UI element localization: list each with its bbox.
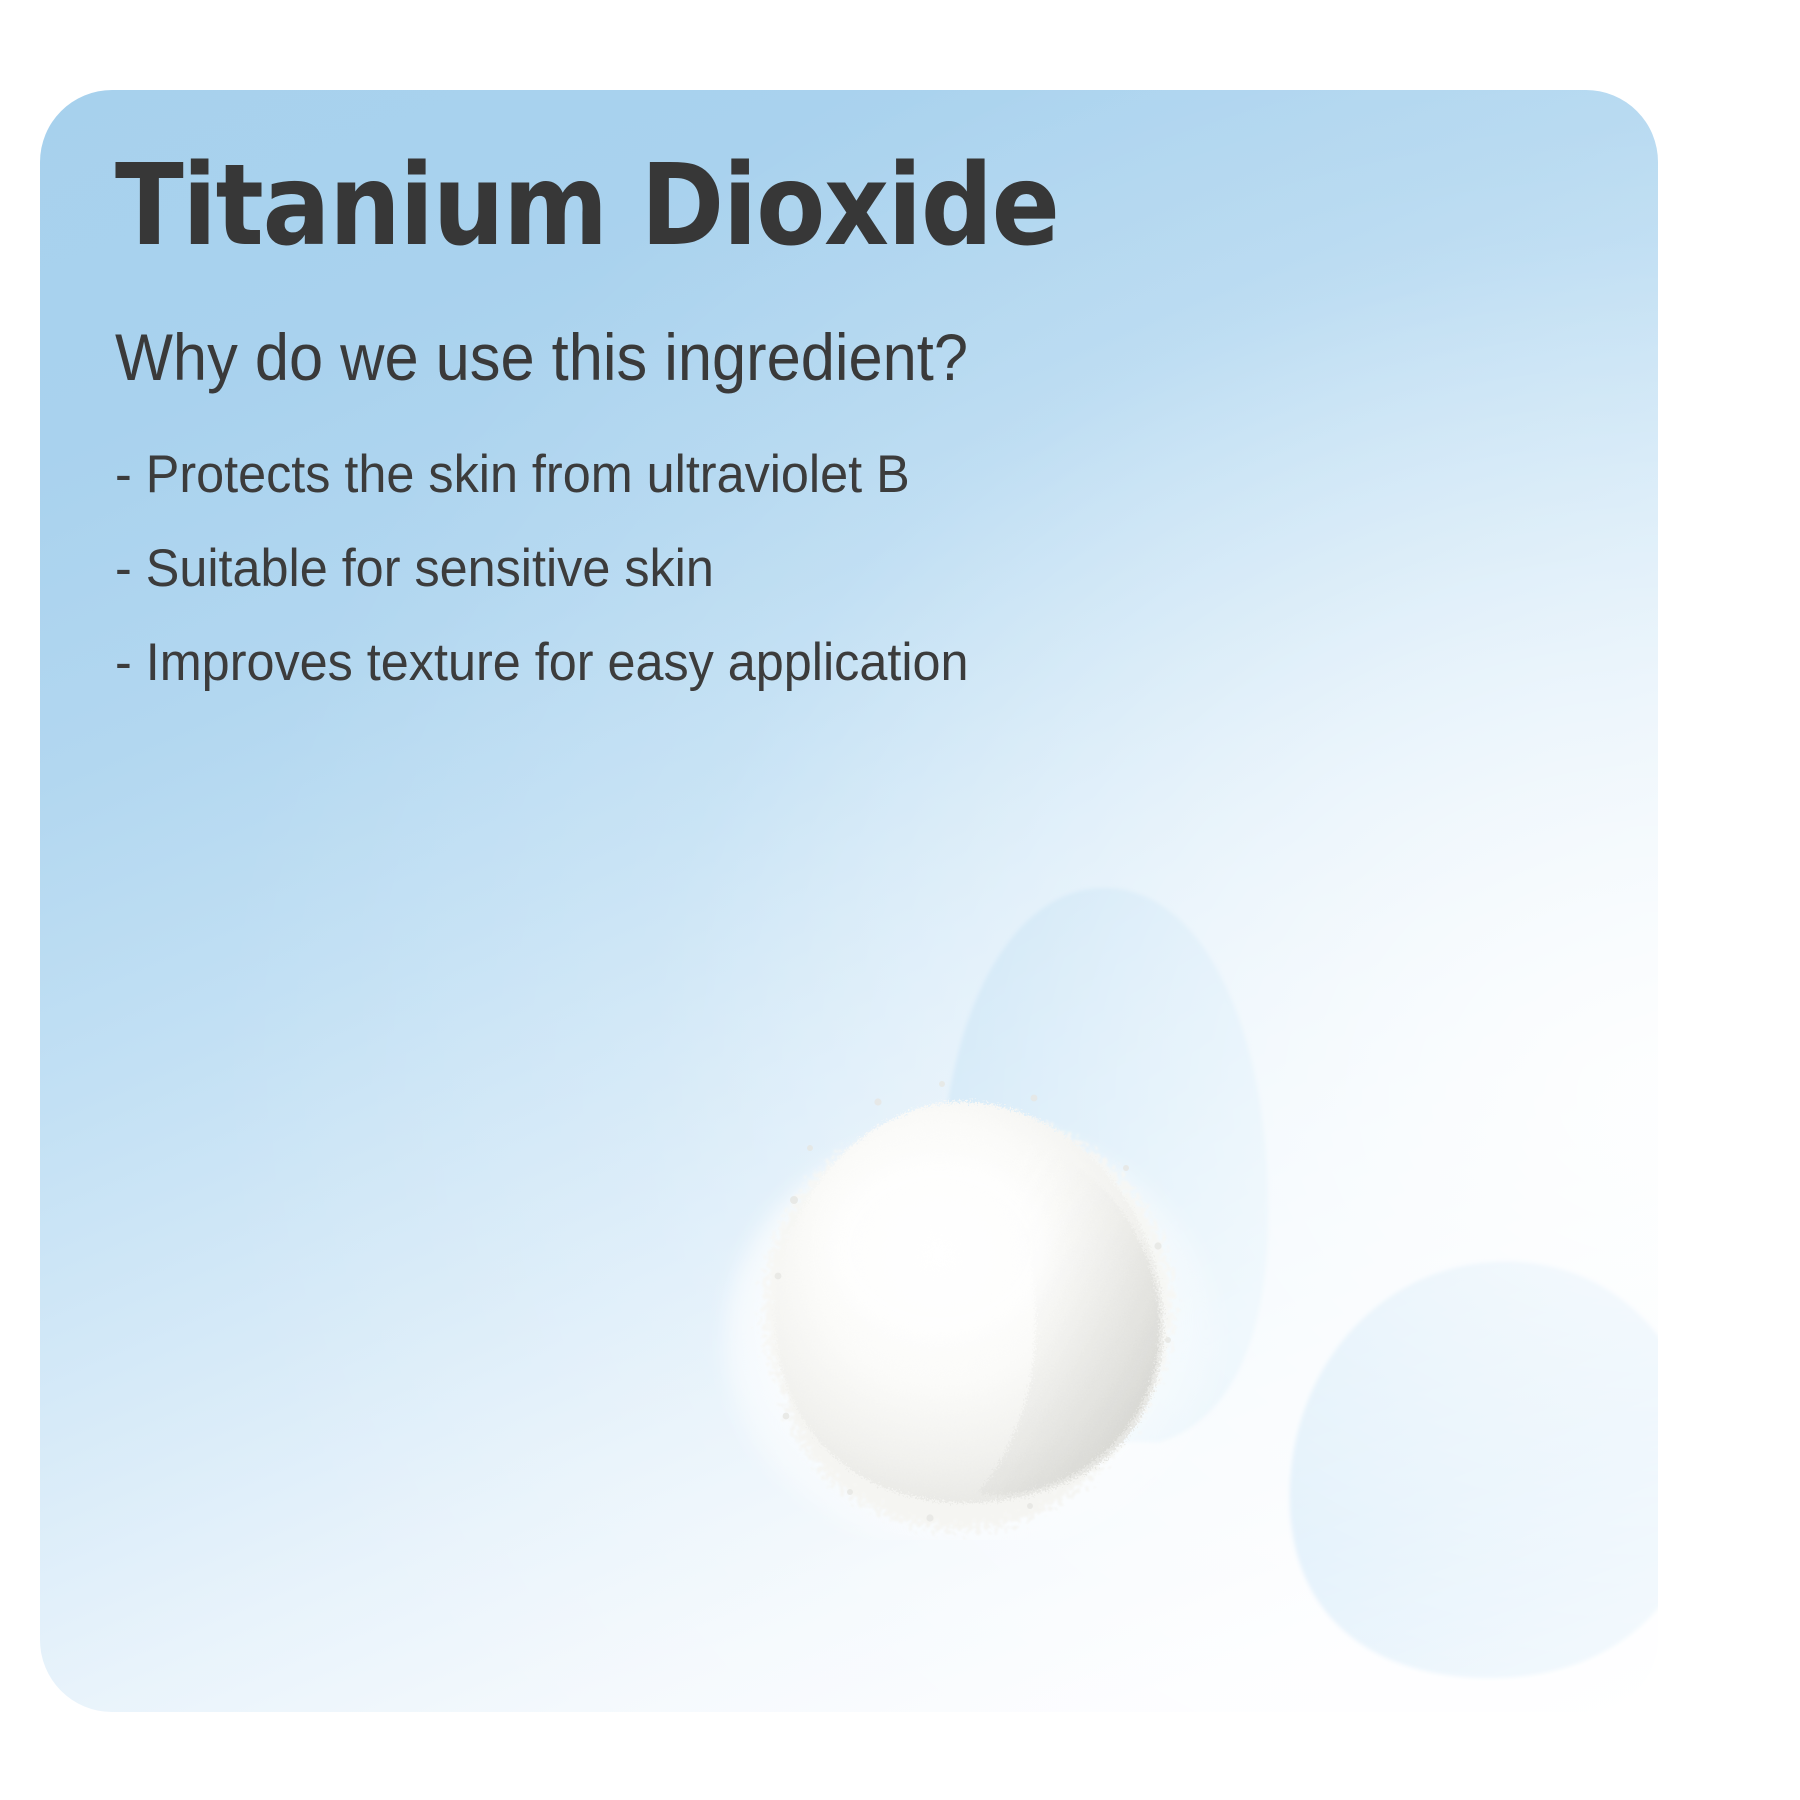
titanium-dioxide-powder-mound <box>690 1040 1250 1540</box>
list-item: - Improves texture for easy application <box>115 636 1255 689</box>
ingredient-card-canvas: Titanium Dioxide Why do we use this ingr… <box>0 0 1800 1800</box>
card-text-content: Titanium Dioxide Why do we use this ingr… <box>115 150 1315 689</box>
page-title: Titanium Dioxide <box>115 150 1195 262</box>
list-item: - Suitable for sensitive skin <box>115 542 1255 595</box>
powder-granules <box>775 1081 1171 1522</box>
petal-upper-center-icon <box>941 888 1268 1442</box>
subtitle-question: Why do we use this ingredient? <box>115 324 1231 390</box>
petal-lower-right-icon <box>1290 1262 1658 1679</box>
benefits-list: - Protects the skin from ultraviolet B -… <box>115 448 1315 689</box>
list-item: - Protects the skin from ultraviolet B <box>115 448 1255 501</box>
ingredient-card: Titanium Dioxide Why do we use this ingr… <box>40 90 1658 1712</box>
